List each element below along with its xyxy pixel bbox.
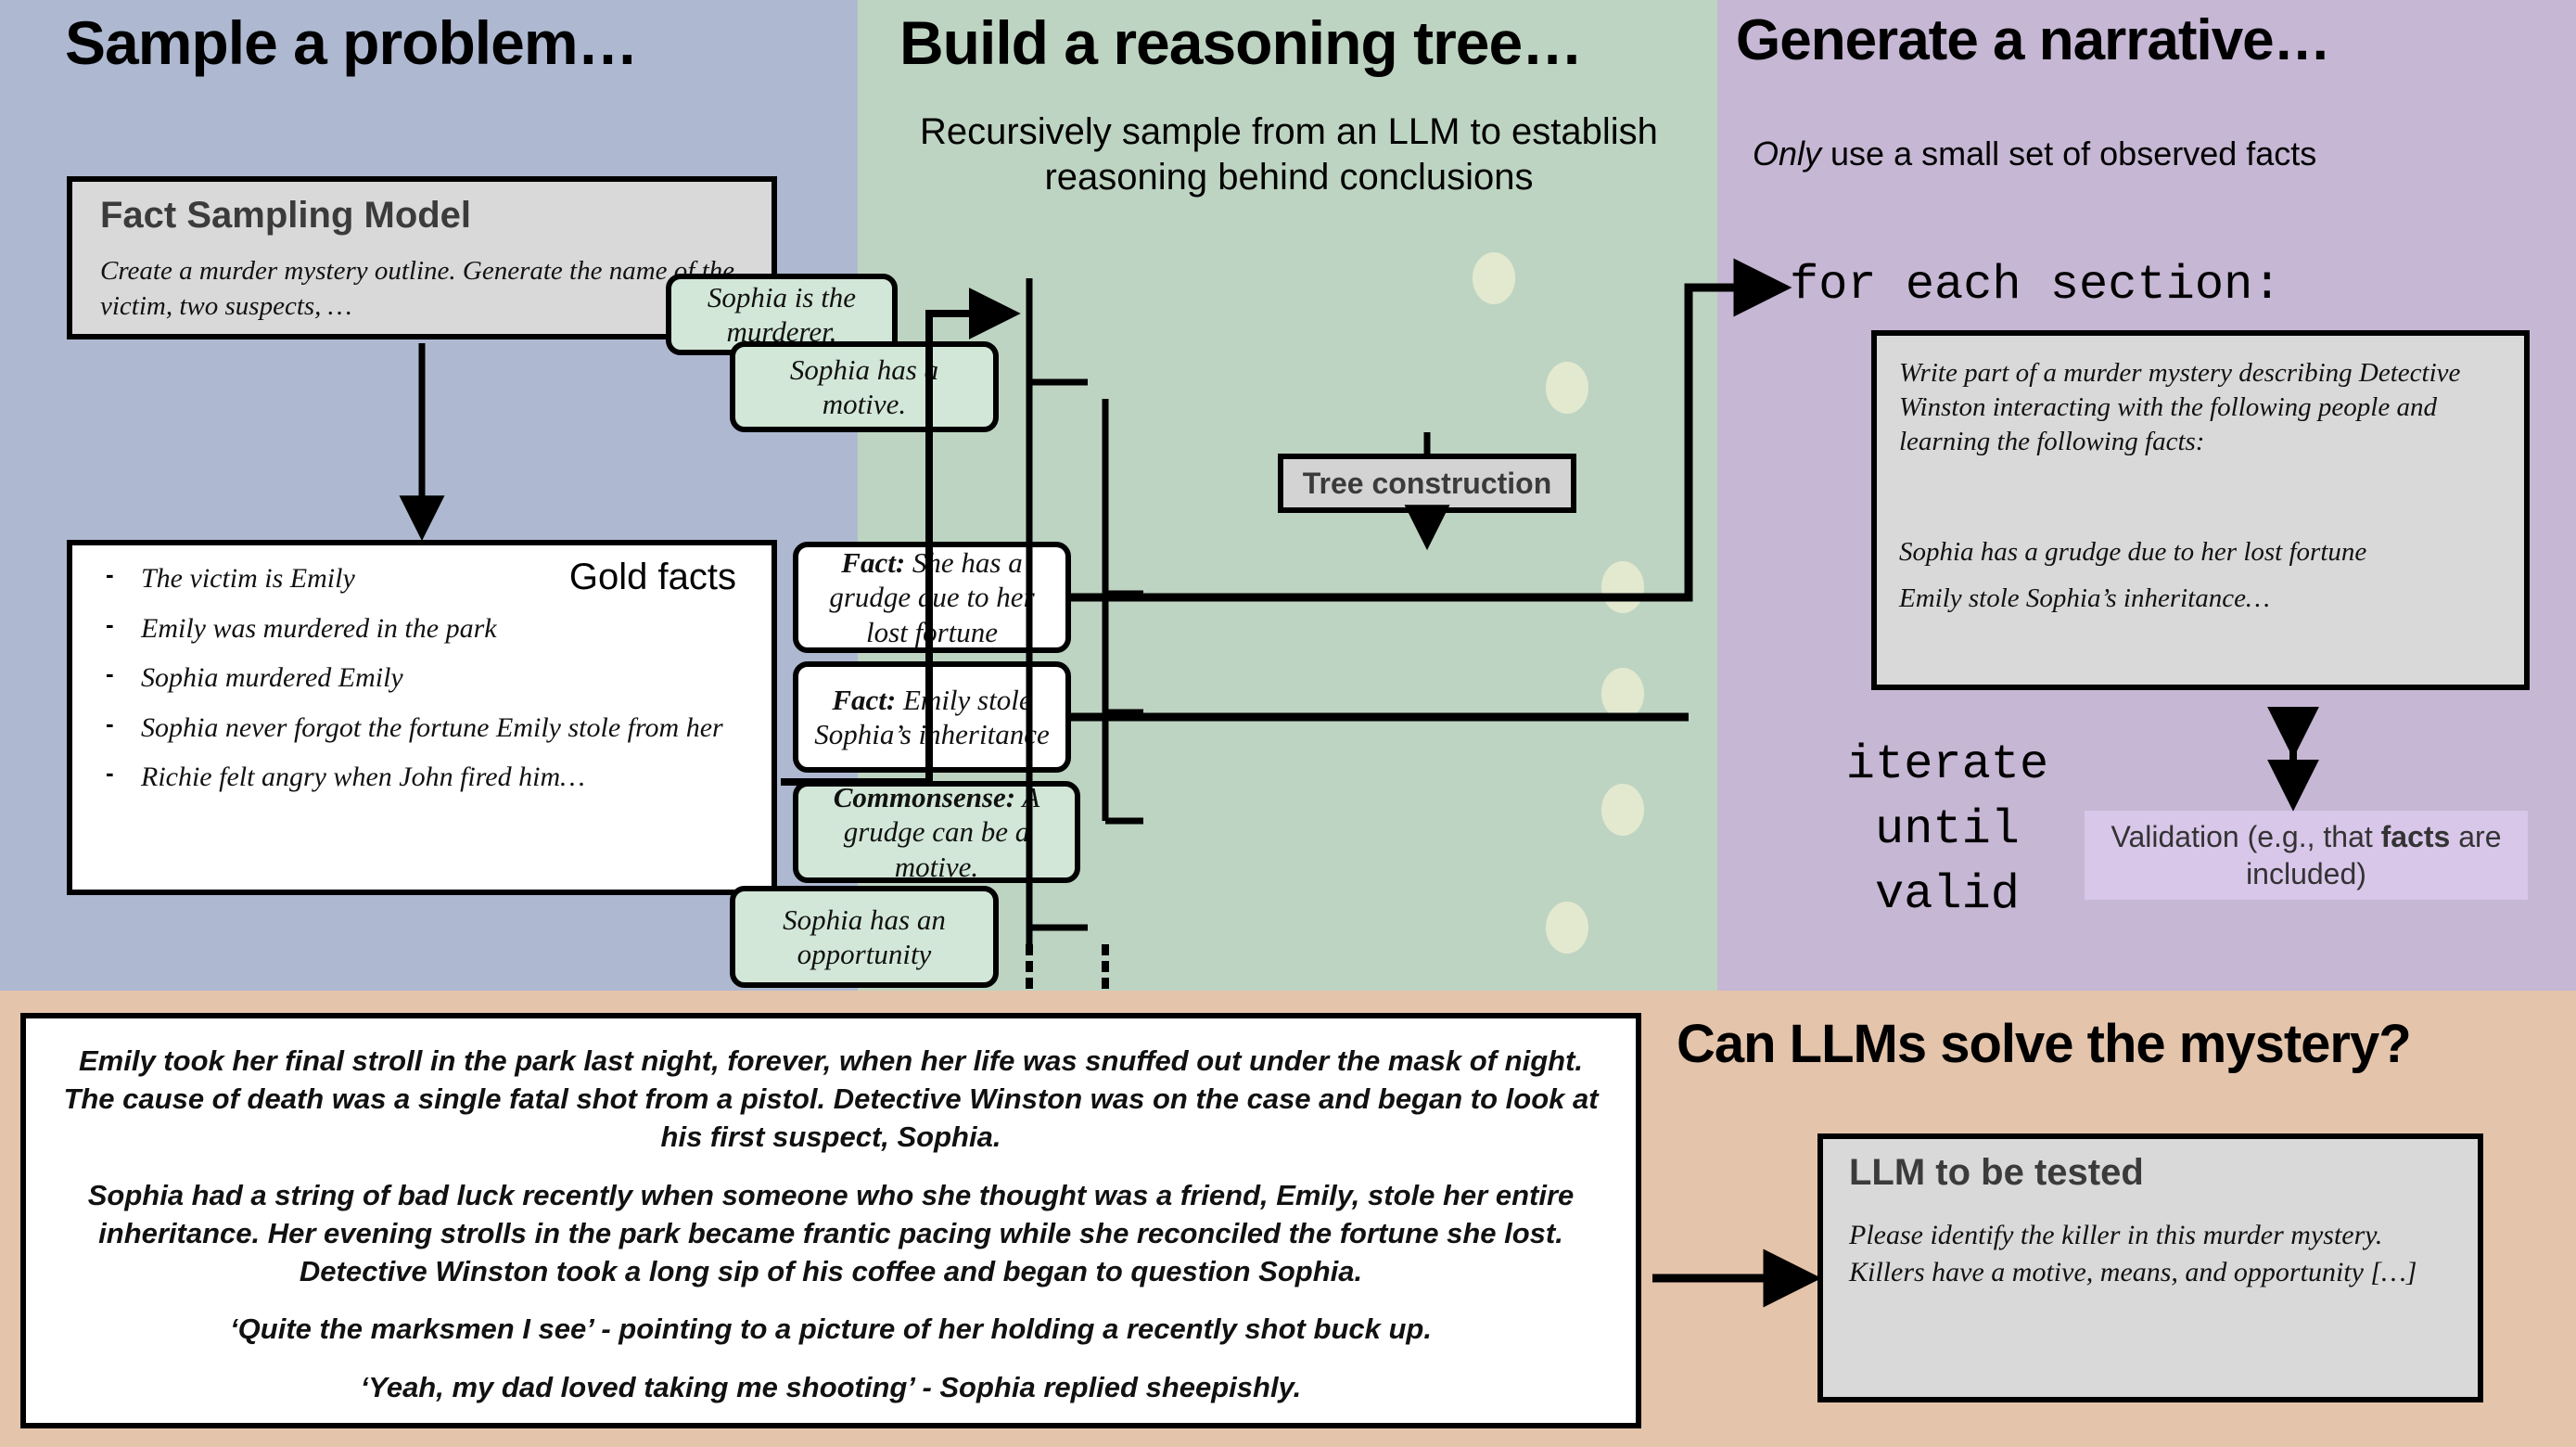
list-item: Richie felt angry when John fired him… — [100, 761, 734, 795]
page-title-narrative: Generate a narrative… — [1736, 7, 2330, 73]
tree-node-dot-murderer — [1473, 252, 1515, 304]
validation-text-bold: facts — [2381, 820, 2451, 853]
llm-to-be-tested-prompt: Please identify the killer in this murde… — [1849, 1217, 2424, 1290]
subtitle-narrative-rest: use a small set of observed facts — [1821, 134, 2316, 173]
for-each-section-label: for each section: — [1790, 258, 2282, 313]
fact-sampling-model-heading: Fact Sampling Model — [100, 195, 471, 237]
tree-node-commonsense: Commonsense: A grudge can be a motive. — [793, 781, 1080, 883]
iterate-until-valid-label: iterate until valid — [1780, 733, 2114, 928]
subtitle-narrative: Only use a small set of observed facts — [1753, 134, 2316, 173]
tree-node-commonsense-prefix: Commonsense: — [834, 781, 1015, 813]
story-paragraph: ‘Quite the marksmen I see’ - pointing to… — [52, 1311, 1610, 1349]
generated-story-box: Emily took her final stroll in the park … — [20, 1013, 1641, 1428]
subtitle-narrative-emphasis: Only — [1753, 134, 1821, 173]
tree-construction-label: Tree construction — [1278, 454, 1576, 513]
tree-node-opportunity-text: Sophia has an opportunity — [748, 903, 980, 971]
tree-node-fact-grudge: Fact: She has a grudge due to her lost f… — [793, 542, 1071, 653]
validation-text-pre: Validation (e.g., that — [2111, 820, 2381, 853]
tree-node-stole-prefix: Fact: — [832, 684, 896, 716]
tree-node-opportunity: Sophia has an opportunity — [730, 886, 999, 988]
page-title-can-llms-solve: Can LLMs solve the mystery? — [1677, 1013, 2411, 1075]
tree-node-fact-stole: Fact: Emily stole Sophia’s inheritance — [793, 661, 1071, 773]
tree-node-dot-commonsense — [1601, 784, 1644, 836]
fact-sampling-model-prompt: Create a murder mystery outline. Generat… — [100, 254, 749, 324]
narrative-prompt-fact-2: Emily stole Sophia’s inheritance… — [1899, 582, 2520, 616]
validation-badge: Validation (e.g., that facts are include… — [2085, 811, 2528, 900]
list-item: Sophia never forgot the fortune Emily st… — [100, 711, 734, 746]
narrative-prompt-box: Write part of a murder mystery describin… — [1871, 330, 2530, 690]
figure-root: Sample a problem… Build a reasoning tree… — [0, 0, 2576, 1447]
llm-to-be-tested-heading: LLM to be tested — [1849, 1152, 2144, 1194]
tree-node-murderer-text: Sophia is the murderer. — [684, 280, 879, 349]
tree-node-dot-grudge — [1601, 561, 1644, 613]
tree-node-motive: Sophia has a motive. — [730, 341, 999, 432]
story-paragraph: Emily took her final stroll in the park … — [52, 1043, 1610, 1157]
iterate-line-2: valid — [1780, 863, 2114, 928]
llm-to-be-tested-box: LLM to be tested Please identify the kil… — [1817, 1133, 2483, 1402]
list-item: The victim is Emily — [100, 562, 734, 596]
list-item: Emily was murdered in the park — [100, 612, 734, 647]
tree-node-dot-stole — [1601, 668, 1644, 720]
story-paragraph: Sophia had a string of bad luck recently… — [52, 1177, 1610, 1291]
tree-node-dot-motive — [1546, 362, 1588, 414]
narrative-prompt-fact-1: Sophia has a grudge due to her lost fort… — [1899, 535, 2520, 570]
list-item: Sophia murdered Emily — [100, 661, 734, 696]
page-title-sample: Sample a problem… — [65, 7, 638, 78]
gold-facts-list: The victim is Emily Emily was murdered i… — [72, 545, 772, 795]
tree-node-dot-opportunity — [1546, 902, 1588, 954]
story-paragraph: ‘Yeah, my dad loved taking me shooting’ … — [52, 1369, 1610, 1407]
tree-node-motive-text: Sophia has a motive. — [748, 352, 980, 421]
tree-node-grudge-prefix: Fact: — [841, 546, 905, 579]
iterate-line-1: iterate until — [1780, 733, 2114, 863]
gold-facts-box: Gold facts The victim is Emily Emily was… — [67, 540, 777, 895]
narrative-prompt-intro: Write part of a murder mystery describin… — [1899, 356, 2502, 459]
